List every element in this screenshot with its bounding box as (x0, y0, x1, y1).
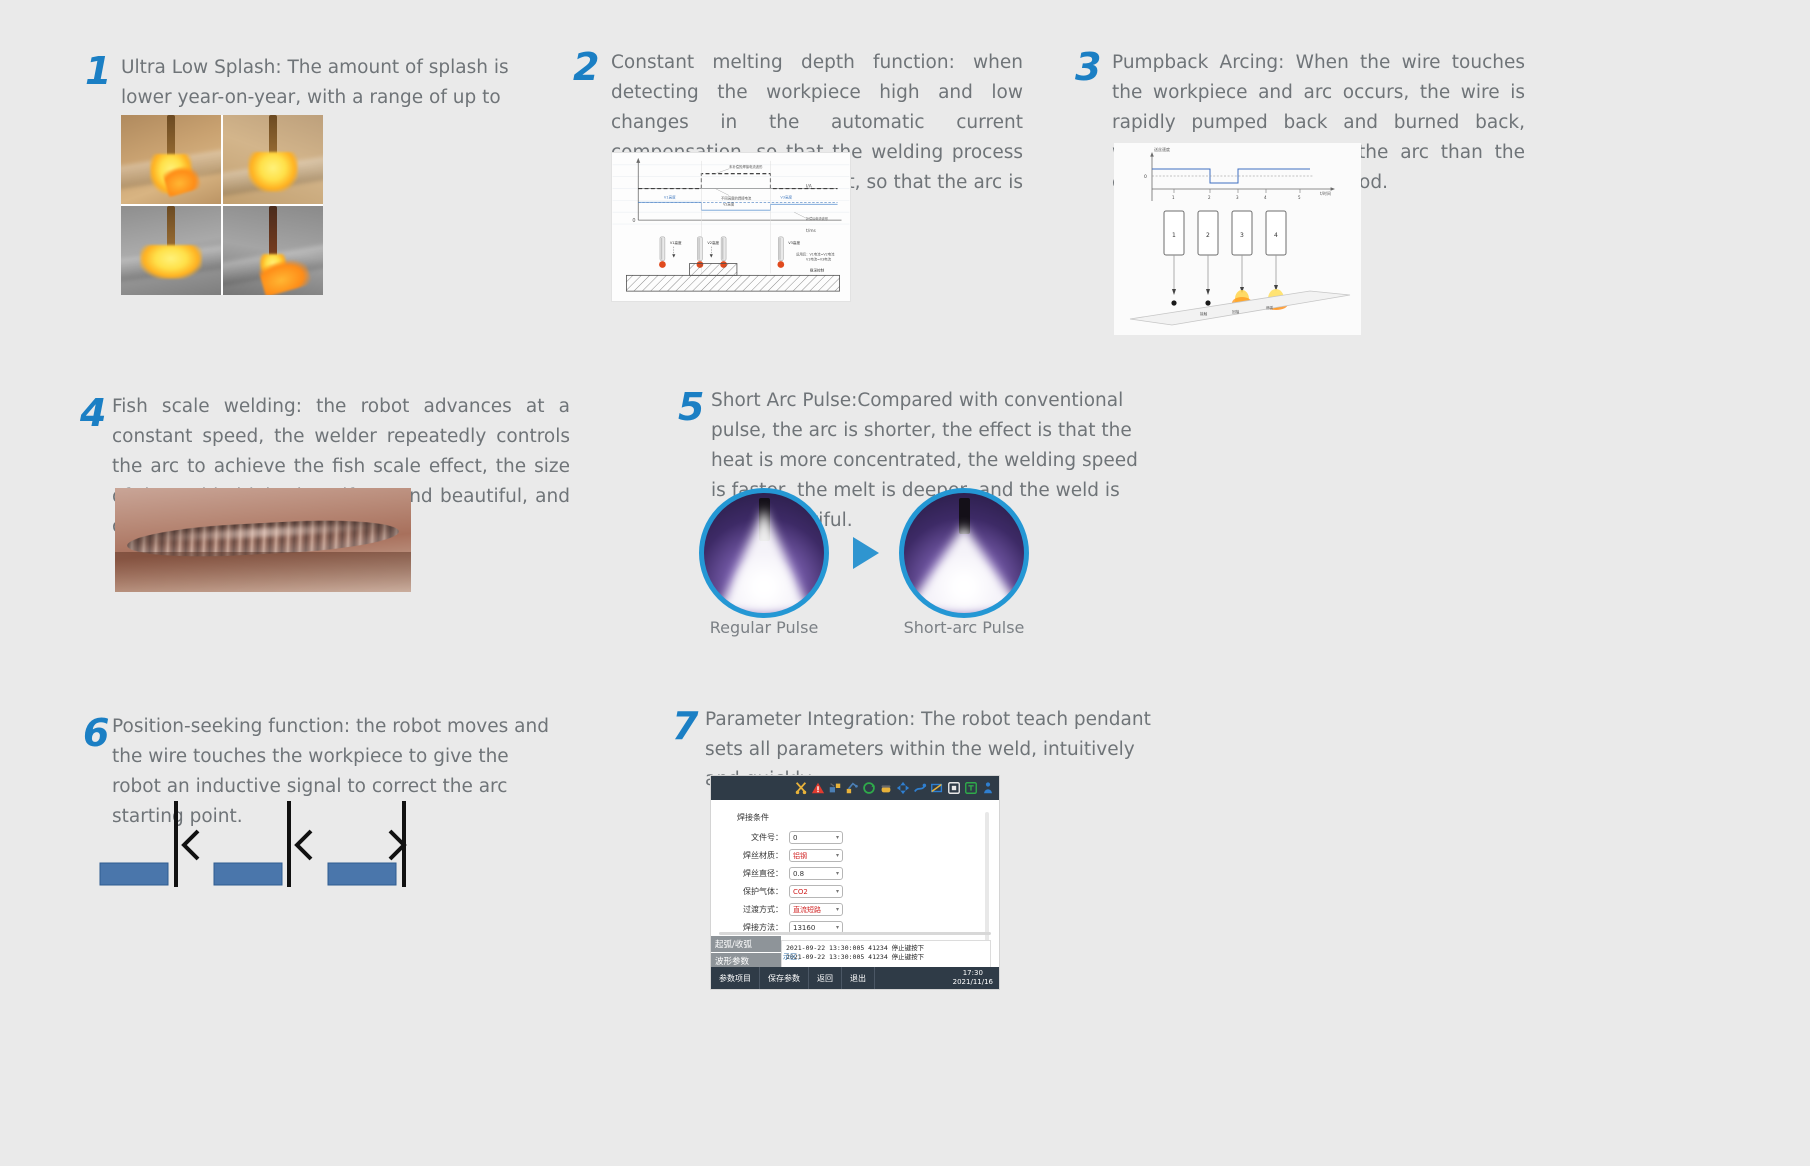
svg-text:1: 1 (1172, 232, 1176, 239)
pendant-content: 焊接条件 文件号： 0 ▾ 焊丝材质： 铝钢 ▾ 焊丝直径： 0.8 (711, 800, 999, 952)
teach-pendant-screenshot: 焊接条件 文件号： 0 ▾ 焊丝材质： 铝钢 ▾ 焊丝直径： 0.8 (710, 775, 1000, 990)
svg-text:不同高度的焊接电流: 不同高度的焊接电流 (721, 195, 752, 200)
robot-icon[interactable] (845, 781, 859, 795)
chevron-down-icon: ▾ (836, 852, 839, 859)
svg-text:回抽: 回抽 (1232, 309, 1240, 314)
feature-1-number: 1 (85, 52, 110, 90)
svg-text:V2高度: V2高度 (707, 240, 719, 245)
feature-4-number: 4 (80, 394, 105, 432)
pumpback-svg: 0 送丝速度 t/时间 1 2 3 4 5 1 2 3 (1114, 143, 1361, 335)
regular-pulse-caption: Regular Pulse (699, 618, 829, 637)
bottom-param-items[interactable]: 参数项目 (711, 967, 760, 989)
pendant-toolbar[interactable] (711, 776, 999, 800)
feature-5-number: 5 (678, 388, 703, 426)
pendant-field-row: 焊丝直径： 0.8 ▾ (721, 867, 989, 880)
svg-text:4: 4 (1274, 232, 1278, 239)
field-label: 保护气体： (721, 886, 783, 897)
weld-photo-4 (223, 206, 323, 295)
position-seeking-sketch (98, 795, 428, 895)
field-label: 过渡方式： (721, 904, 783, 915)
tool-icon[interactable] (828, 781, 842, 795)
chevron-down-icon: ▾ (836, 870, 839, 877)
chevron-down-icon: ▾ (836, 888, 839, 895)
welding-wire (269, 206, 277, 258)
svg-text:t/ms: t/ms (806, 228, 817, 234)
select-value: 0.8 (793, 870, 804, 878)
log-line: 2021-09-22 13:30:005 41234 停止键按下 (786, 953, 986, 962)
svg-text:V1高度: V1高度 (670, 240, 682, 245)
feature-2-number: 2 (573, 48, 598, 86)
chevron-down-icon: ▾ (836, 906, 839, 913)
circle-arrow-icon[interactable] (862, 781, 876, 795)
pendant-field-row: 焊丝材质： 铝钢 ▾ (721, 849, 989, 862)
pendant-scrollbar[interactable] (985, 812, 989, 950)
weld-icon[interactable] (913, 781, 927, 795)
weld-shadow (115, 552, 411, 592)
pendant-panel-title: 焊接条件 (737, 812, 989, 823)
svg-text:V3高度: V3高度 (788, 240, 800, 245)
pendant-field-row: 文件号： 0 ▾ (721, 831, 989, 844)
feature-6-number: 6 (83, 714, 108, 752)
transfer-mode-select[interactable]: 直流短路 ▾ (789, 903, 843, 916)
arc-glow (248, 152, 298, 192)
gas-icon[interactable] (879, 781, 893, 795)
short-arc-pulse-arc-image (899, 488, 1029, 618)
svg-text:V1电流=V3电流: V1电流=V3电流 (806, 257, 832, 262)
pendant-clock: 17:30 2021/11/16 (953, 969, 999, 987)
low-splash-photo-grid (121, 115, 323, 295)
short-arc-pulse-caption: Short-arc Pulse (899, 618, 1029, 637)
pendant-field-row: 保护气体： CO2 ▾ (721, 885, 989, 898)
feature-7-number: 7 (672, 707, 697, 745)
svg-text:t/时间: t/时间 (1320, 190, 1331, 196)
arc-cone (904, 525, 1024, 613)
scissors-icon[interactable] (794, 781, 808, 795)
svg-text:补偿后电流波形: 补偿后电流波形 (806, 216, 829, 221)
svg-text:运用后：V1电流=V2电流: 运用后：V1电流=V2电流 (796, 252, 835, 257)
svg-text:3: 3 (1240, 232, 1244, 239)
warning-icon[interactable] (811, 781, 825, 795)
text-icon[interactable] (964, 781, 978, 795)
svg-text:接触: 接触 (1200, 311, 1208, 316)
bottom-exit[interactable]: 退出 (842, 967, 875, 989)
welding-wire (167, 206, 175, 251)
svg-text:2: 2 (1206, 232, 1210, 239)
clock-date: 2021/11/16 (953, 978, 993, 987)
svg-text:燃弧: 燃弧 (1266, 305, 1274, 310)
select-value: 直流短路 (793, 905, 821, 915)
svg-text:0: 0 (632, 218, 635, 224)
wire-diameter-select[interactable]: 0.8 ▾ (789, 867, 843, 880)
select-value: 0 (793, 834, 797, 842)
svg-text:未补偿的焊接电流波形: 未补偿的焊接电流波形 (729, 164, 763, 169)
svg-text:V3高度: V3高度 (780, 194, 792, 199)
tab-arc-start-end[interactable]: 起弧/收弧 (711, 936, 781, 952)
chevron-down-icon: ▾ (836, 924, 839, 931)
pendant-field-row: 过渡方式： 直流短路 ▾ (721, 903, 989, 916)
field-label: 文件号： (721, 832, 783, 843)
current-compensation-svg: 0 I/A t/ms 未补偿的焊接电流波形 不同高度的焊接电流 V2高度 V1高… (612, 153, 850, 301)
wire-icon[interactable] (930, 781, 944, 795)
arc-glow (140, 245, 202, 279)
pendant-log-prefix: 示区： (783, 952, 804, 962)
svg-text:稳深控制: 稳深控制 (810, 267, 825, 272)
svg-text:0: 0 (1144, 174, 1147, 180)
field-label: 焊丝材质： (721, 850, 783, 861)
clock-time: 17:30 (953, 969, 993, 978)
weld-photo-2 (223, 115, 323, 204)
select-value: CO2 (793, 888, 808, 896)
pumpback-arcing-diagram: 0 送丝速度 t/时间 1 2 3 4 5 1 2 3 (1114, 143, 1361, 335)
bottom-save-params[interactable]: 保存参数 (760, 967, 809, 989)
move-icon[interactable] (896, 781, 910, 795)
infographic-page: 1 Ultra Low Splash: The amount of splash… (0, 0, 1810, 1166)
person-icon[interactable] (981, 781, 995, 795)
feature-3-number: 3 (1075, 48, 1100, 86)
svg-text:V2高度: V2高度 (723, 201, 735, 206)
select-value: 铝钢 (793, 851, 807, 861)
select-value: 13160 (793, 924, 815, 932)
weld-photo-3 (121, 206, 221, 295)
chevron-down-icon: ▾ (836, 834, 839, 841)
shielding-gas-select[interactable]: CO2 ▾ (789, 885, 843, 898)
arc-cone (718, 508, 810, 613)
wire-material-select[interactable]: 铝钢 ▾ (789, 849, 843, 862)
constant-melting-depth-diagram: 0 I/A t/ms 未补偿的焊接电流波形 不同高度的焊接电流 V2高度 V1高… (611, 152, 851, 302)
play-triangle-icon (853, 537, 879, 569)
regular-pulse-arc-image (699, 488, 829, 618)
field-label: 焊丝直径： (721, 868, 783, 879)
pendant-bottom-bar: 参数项目 保存参数 返回 退出 17:30 2021/11/16 (711, 967, 999, 989)
bottom-back[interactable]: 返回 (809, 967, 842, 989)
stop-icon[interactable] (947, 781, 961, 795)
svg-text:V1高度: V1高度 (664, 194, 676, 199)
fish-scale-weld-photo (115, 488, 411, 592)
file-number-select[interactable]: 0 ▾ (789, 831, 843, 844)
svg-text:送丝速度: 送丝速度 (1154, 146, 1170, 152)
pendant-divider (719, 932, 991, 935)
weld-photo-1 (121, 115, 221, 204)
log-line: 2021-09-22 13:30:005 41234 停止键按下 (786, 944, 986, 953)
